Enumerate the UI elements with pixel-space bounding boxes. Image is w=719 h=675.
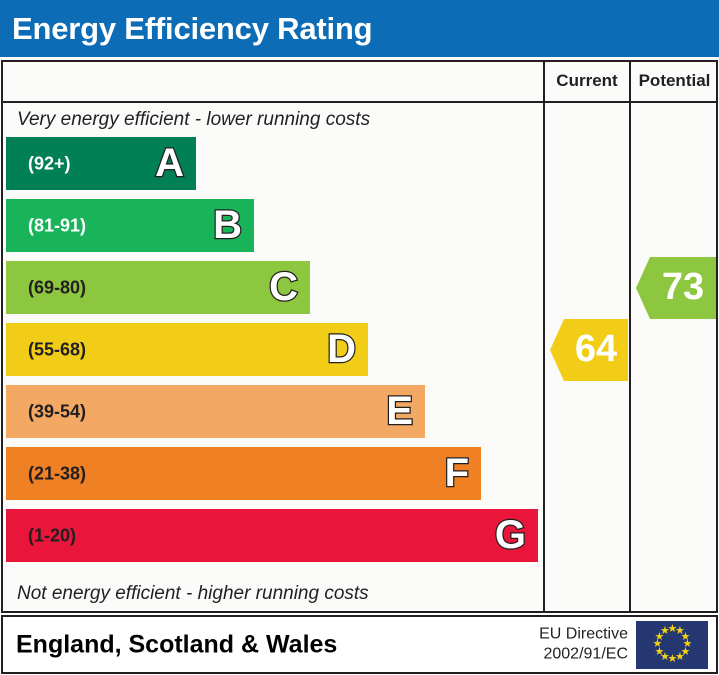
band-bar-g: (1-20) G	[6, 509, 538, 562]
caption-very-efficient: Very energy efficient - lower running co…	[3, 103, 543, 137]
page-title: Energy Efficiency Rating	[12, 11, 372, 47]
current-rating-value: 64	[564, 330, 628, 368]
eu-flag-icon: ★★★★★★★★★★★★	[636, 621, 708, 669]
band-letter-e: E	[386, 391, 413, 431]
band-bar-a: (92+) A	[6, 137, 196, 190]
chart-frame: Current Potential Very energy efficient …	[1, 60, 718, 613]
potential-rating-arrow: 73	[636, 257, 716, 319]
column-header-row: Current Potential	[3, 62, 716, 103]
caption-not-efficient: Not energy efficient - higher running co…	[3, 577, 543, 611]
band-letter-a: A	[155, 143, 184, 183]
directive-line-1: EU Directive	[539, 624, 628, 644]
energy-efficiency-rating-chart: Energy Efficiency Rating Current Potenti…	[0, 0, 719, 675]
band-letter-f: F	[445, 453, 469, 493]
band-range-c: (69-80)	[28, 277, 86, 298]
band-letter-d: D	[327, 329, 356, 369]
band-range-e: (39-54)	[28, 401, 86, 422]
column-divider-current	[543, 62, 545, 611]
column-header-current: Current	[545, 71, 629, 91]
band-bar-c: (69-80) C	[6, 261, 310, 314]
eu-star-icon: ★	[660, 627, 669, 636]
directive-line-2: 2002/91/EC	[539, 645, 628, 665]
band-range-f: (21-38)	[28, 463, 86, 484]
footer-directive: EU Directive 2002/91/EC	[539, 624, 628, 665]
title-bar: Energy Efficiency Rating	[0, 0, 719, 57]
band-bar-e: (39-54) E	[6, 385, 425, 438]
band-bars: (92+) A (81-91) B (69-80) C (55-68) D (3…	[3, 137, 543, 577]
band-bar-f: (21-38) F	[6, 447, 481, 500]
band-range-b: (81-91)	[28, 215, 86, 236]
band-letter-g: G	[495, 515, 526, 555]
band-range-g: (1-20)	[28, 525, 76, 546]
band-range-a: (92+)	[28, 153, 71, 174]
potential-rating-value: 73	[650, 268, 716, 306]
band-bar-d: (55-68) D	[6, 323, 368, 376]
band-range-d: (55-68)	[28, 339, 86, 360]
band-letter-b: B	[213, 205, 242, 245]
current-rating-arrow: 64	[550, 319, 628, 381]
band-letter-c: C	[269, 267, 298, 307]
footer-region-label: England, Scotland & Wales	[16, 630, 337, 659]
column-header-potential: Potential	[631, 71, 718, 91]
band-bar-b: (81-91) B	[6, 199, 254, 252]
column-divider-potential	[629, 62, 631, 611]
footer-bar: England, Scotland & Wales EU Directive 2…	[1, 615, 718, 674]
